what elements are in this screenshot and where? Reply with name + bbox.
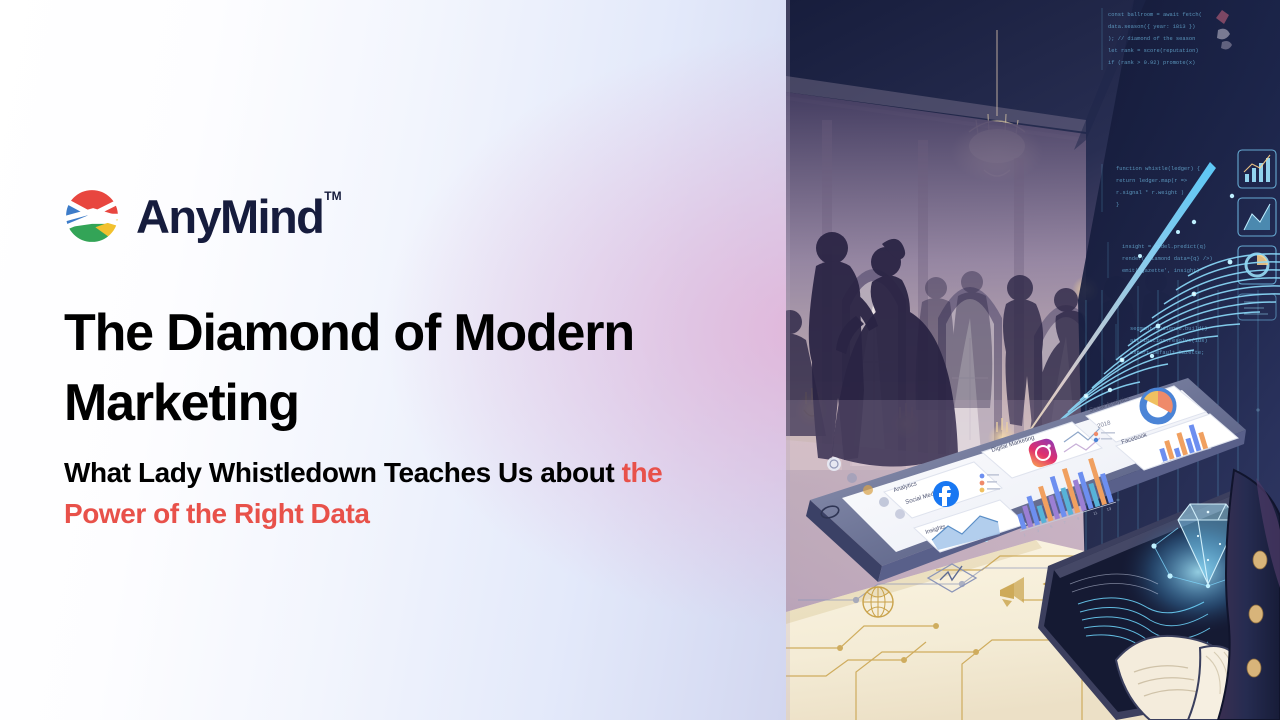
headline-line-2: Marketing: [64, 368, 704, 438]
page-subtitle: What Lady Whistledown Teaches Us about t…: [64, 452, 664, 534]
svg-text:return ledger.map(r =>: return ledger.map(r =>: [1116, 178, 1187, 184]
globe-grid-icon: [863, 587, 893, 617]
presentation-slide: AnyMindTM The Diamond of Modern Marketin…: [0, 0, 1280, 720]
hero-artwork-panel: const ballroom = await fetch( data.seaso…: [786, 0, 1280, 720]
brand-logo-lockup[interactable]: AnyMindTM: [64, 188, 342, 244]
subtitle-line-2-prefix: about: [540, 457, 621, 488]
anymind-circle-logo-icon: [64, 188, 120, 244]
svg-text:if (rank > 0.92) promote(x): if (rank > 0.92) promote(x): [1108, 60, 1195, 66]
brand-wordmark: AnyMindTM: [136, 193, 342, 240]
left-content-panel: AnyMindTM The Diamond of Modern Marketin…: [0, 0, 786, 720]
svg-text:const ballroom = await fetch(: const ballroom = await fetch(: [1108, 12, 1202, 18]
svg-text:let rank = score(reputation): let rank = score(reputation): [1108, 48, 1199, 54]
svg-text:r.signal * r.weight ): r.signal * r.weight ): [1116, 190, 1184, 196]
svg-text:data.season({ year: 1813 }): data.season({ year: 1813 }): [1108, 24, 1195, 30]
svg-text:emit('gazette', insight): emit('gazette', insight): [1122, 268, 1200, 274]
svg-text:function whistle(ledger) {: function whistle(ledger) {: [1116, 166, 1200, 172]
facebook-icon: [933, 481, 959, 507]
svg-text:render(<Diamond data={q} />): render(<Diamond data={q} />): [1122, 256, 1213, 262]
svg-text:}: }: [1116, 202, 1119, 208]
headline-line-1: The Diamond of Modern: [64, 298, 704, 368]
brand-name-text: AnyMind: [136, 190, 323, 243]
page-title: The Diamond of Modern Marketing: [64, 298, 704, 438]
trademark-symbol: TM: [324, 189, 341, 203]
svg-text:); // diamond of the season: ); // diamond of the season: [1108, 36, 1195, 42]
ballroom-data-illustration: const ballroom = await fetch( data.seaso…: [786, 0, 1280, 720]
subtitle-line-1: What Lady Whistledown Teaches Us: [64, 457, 533, 488]
svg-text:insight = model.predict(q): insight = model.predict(q): [1122, 244, 1206, 250]
